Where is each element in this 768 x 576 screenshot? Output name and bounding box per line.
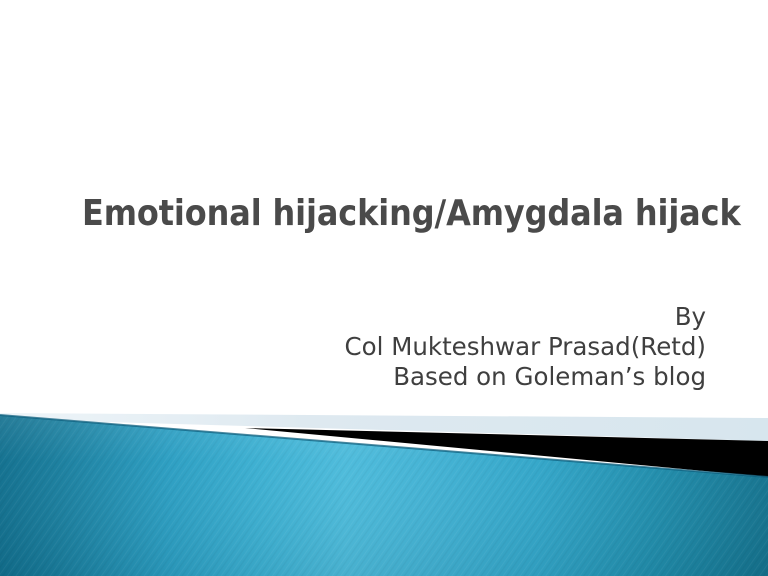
teal-edge-line — [0, 415, 768, 477]
teal-wedge-shading — [0, 400, 768, 576]
subtitle-line-2: Col Mukteshwar Prasad(Retd) — [345, 332, 706, 362]
slide-title: Emotional hijacking/Amygdala hijack — [82, 190, 708, 238]
banner-svg — [0, 0, 768, 576]
black-wedge — [245, 428, 768, 477]
teal-wedge — [0, 415, 768, 576]
subtitle-line-1: By — [345, 302, 706, 332]
pale-blue-wedge — [0, 413, 768, 441]
slide-canvas: Emotional hijacking/Amygdala hijack By C… — [0, 0, 768, 576]
subtitle-line-3: Based on Goleman’s blog — [345, 362, 706, 392]
angled-ribbon-banner — [0, 0, 768, 576]
slide-subtitle: By Col Mukteshwar Prasad(Retd) Based on … — [345, 302, 706, 392]
